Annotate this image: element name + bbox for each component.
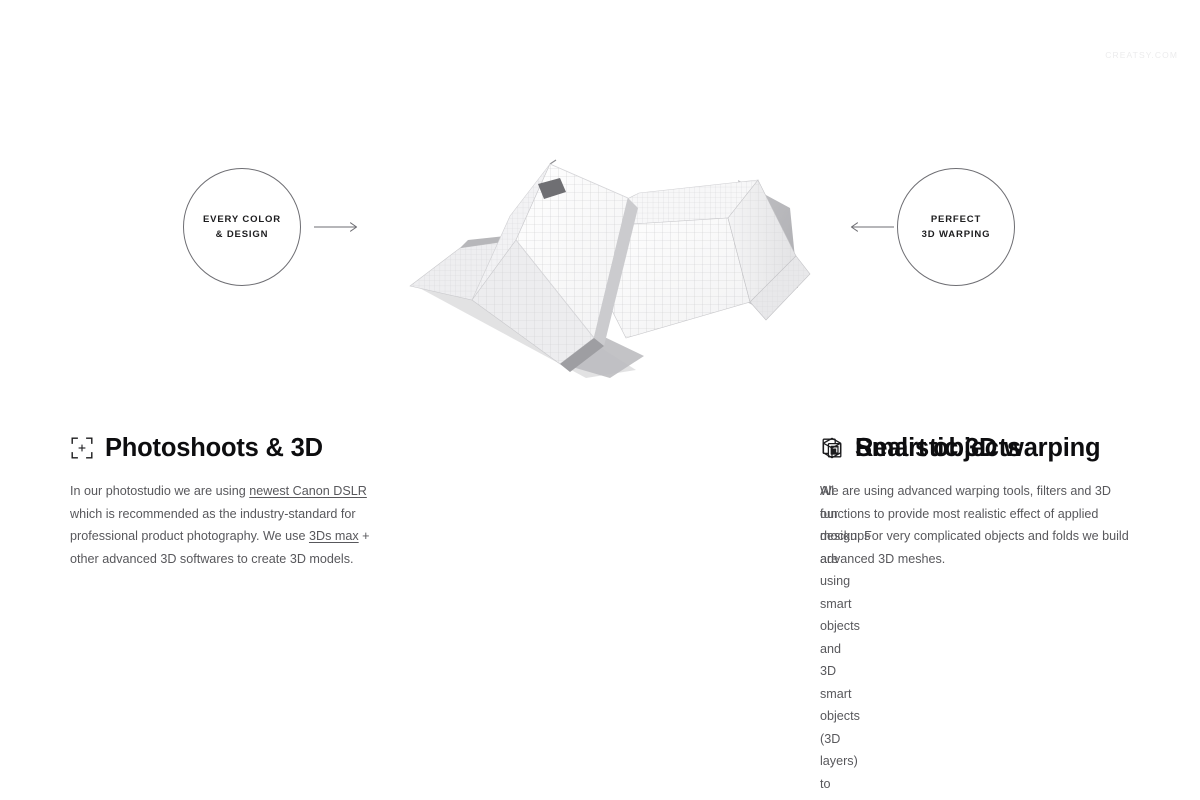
feature-photoshoots-3d: Photoshoots & 3D In our photostudio we a…: [70, 430, 445, 800]
badge-every-color-design: EVERY COLOR & DESIGN: [183, 168, 301, 286]
mockup-3d-render: [398, 88, 818, 378]
page-root: CREATSY.COM EVERY COLOR & DESIGN PERFECT…: [0, 0, 1200, 800]
badge-perfect-3d-warping: PERFECT 3D WARPING: [897, 168, 1015, 286]
arrow-right-icon: [314, 221, 360, 233]
arrow-left-icon: [848, 221, 894, 233]
feature-smart-objects: Smart objects All our mockups are using …: [445, 430, 820, 800]
feature-header: Photoshoots & 3D: [70, 430, 445, 466]
feature-body: We are using advanced warping tools, fil…: [820, 480, 1140, 570]
badge-left-line2: & DESIGN: [216, 227, 269, 242]
feature-title: Photoshoots & 3D: [105, 433, 323, 463]
feature-title: Realistic 3D warping: [855, 433, 1100, 463]
hero-section: EVERY COLOR & DESIGN PERFECT 3D WARPING: [0, 0, 1200, 420]
features-grid: Photoshoots & 3D In our photostudio we a…: [0, 430, 1200, 800]
crop-focus-icon: [70, 436, 94, 460]
badge-right-line2: 3D WARPING: [922, 227, 991, 242]
badge-right-line1: PERFECT: [931, 212, 981, 227]
badge-left-line1: EVERY COLOR: [203, 212, 281, 227]
feature-realistic-3d-warping: Realistic 3D warping We are using advanc…: [820, 430, 1160, 800]
carton-mesh-illustration: [398, 88, 818, 378]
feature-header: Realistic 3D warping: [820, 430, 1160, 466]
feature-body: In our photostudio we are using newest C…: [70, 480, 390, 570]
cube-3d-icon: [820, 436, 844, 460]
